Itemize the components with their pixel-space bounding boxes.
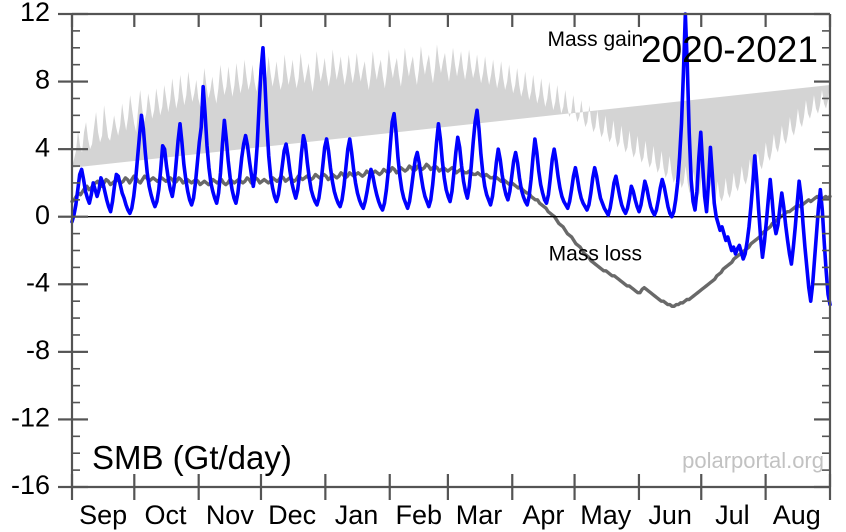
x-month-label: Jun <box>648 500 692 530</box>
y-tick-label: -8 <box>26 335 50 365</box>
x-month-label: Jul <box>715 500 750 530</box>
y-tick-label: -4 <box>26 267 50 297</box>
x-month-label: Mar <box>456 500 503 530</box>
y-tick-label: 4 <box>35 132 50 162</box>
x-month-label: Jan <box>335 500 379 530</box>
smb-chart-page: 12840-4-8-12-16 SepOctNovDecJanFebMarApr… <box>0 0 846 532</box>
plot-annotation-label: Mass gain <box>547 28 643 51</box>
x-month-label: May <box>580 500 632 530</box>
x-month-label: Oct <box>144 500 187 530</box>
x-month-label: Aug <box>773 500 821 530</box>
x-month-label: Sep <box>79 500 127 530</box>
x-month-label: Nov <box>206 500 255 530</box>
y-tick-label: 0 <box>35 200 50 230</box>
y-tick-label: 12 <box>20 0 50 27</box>
plot-annotation-label: Mass loss <box>549 243 642 266</box>
x-month-label: Dec <box>268 500 316 530</box>
y-tick-label: -12 <box>11 403 50 433</box>
watermark-label: polarportal.org <box>682 448 824 473</box>
axis-title: SMB (Gt/day) <box>92 439 292 476</box>
y-tick-label: 8 <box>35 65 50 95</box>
y-tick-label: -16 <box>11 470 50 500</box>
chart-title: 2020-2021 <box>641 29 818 70</box>
x-month-label: Feb <box>396 500 443 530</box>
smb-chart: 12840-4-8-12-16 SepOctNovDecJanFebMarApr… <box>0 0 846 532</box>
x-month-label: Apr <box>522 500 564 530</box>
